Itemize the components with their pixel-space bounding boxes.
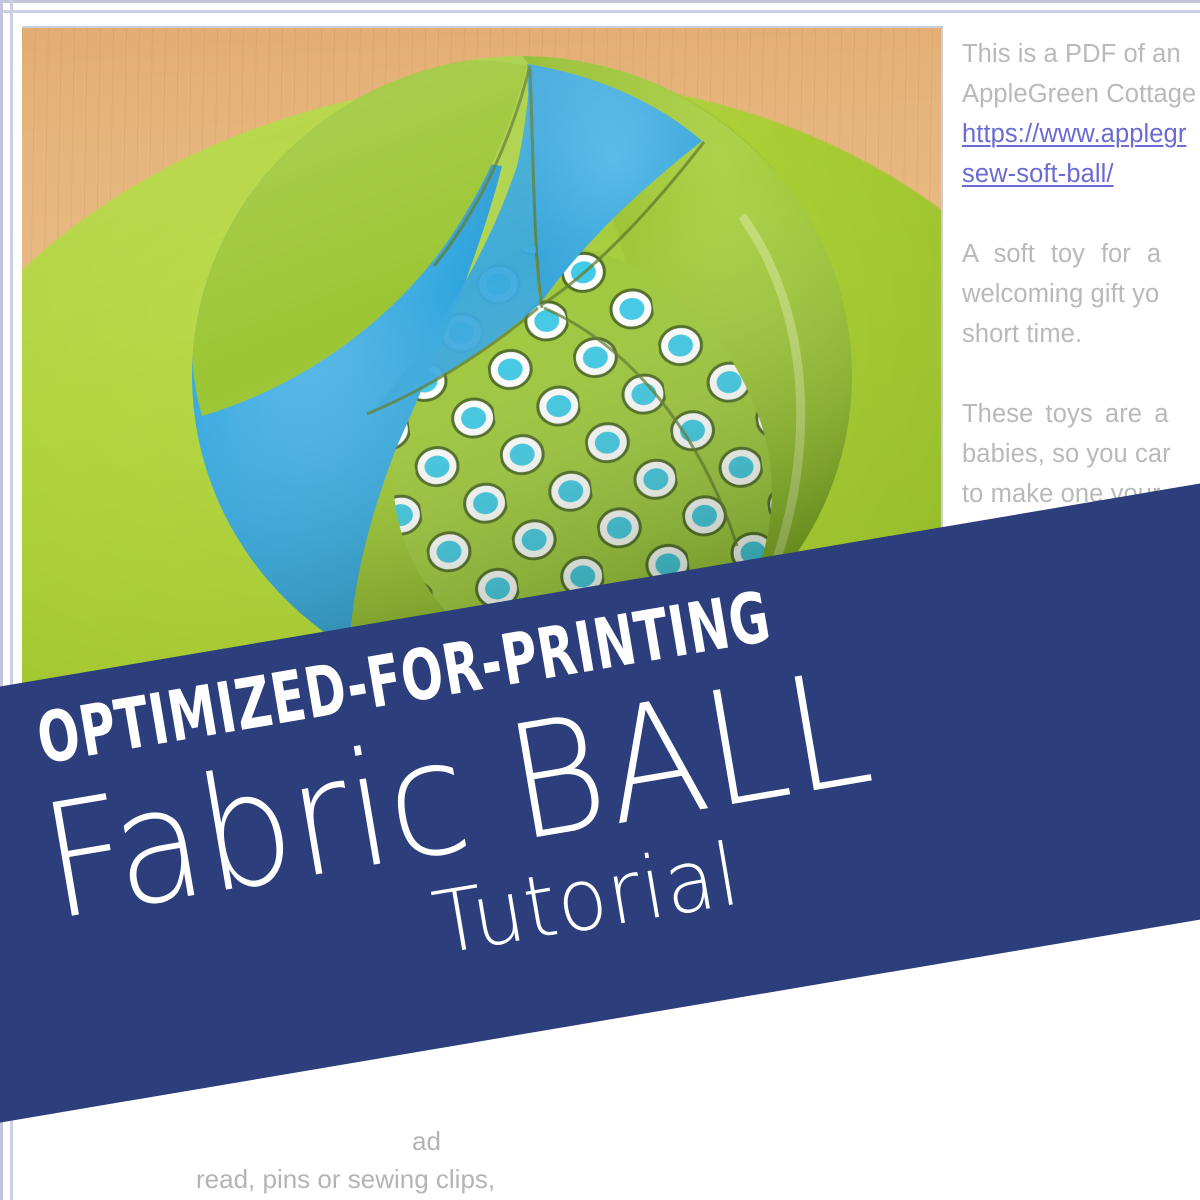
para1-line-1: A soft toy for a <box>962 234 1200 274</box>
tutorial-link-line-1[interactable]: https://www.applegr <box>962 114 1200 154</box>
intro-line-2: AppleGreen Cottage <box>962 74 1200 114</box>
intro-line-1: This is a PDF of an <box>962 34 1200 74</box>
pdf-cover-page: This is a PDF of an AppleGreen Cottage h… <box>0 0 1200 1200</box>
paragraph-spacer-2 <box>962 354 1200 394</box>
page-frame-top-gap <box>0 3 1200 10</box>
supplies-line-2: read, pins or sewing clips, <box>196 1160 495 1198</box>
para2-line-1: These toys are a <box>962 394 1200 434</box>
page-frame-top-rule-2 <box>0 10 1200 13</box>
paragraph-spacer-1 <box>962 194 1200 234</box>
para1-line-2: welcoming gift yo <box>962 274 1200 314</box>
tutorial-link-line-2[interactable]: sew-soft-ball/ <box>962 154 1200 194</box>
supplies-list: ad read, pins or sewing clips, <box>196 1122 495 1198</box>
supplies-line-1: ad <box>412 1122 495 1160</box>
banner-right-mask <box>1190 930 1200 1200</box>
para2-line-2: babies, so you car <box>962 434 1200 474</box>
para1-line-3: short time. <box>962 314 1200 354</box>
